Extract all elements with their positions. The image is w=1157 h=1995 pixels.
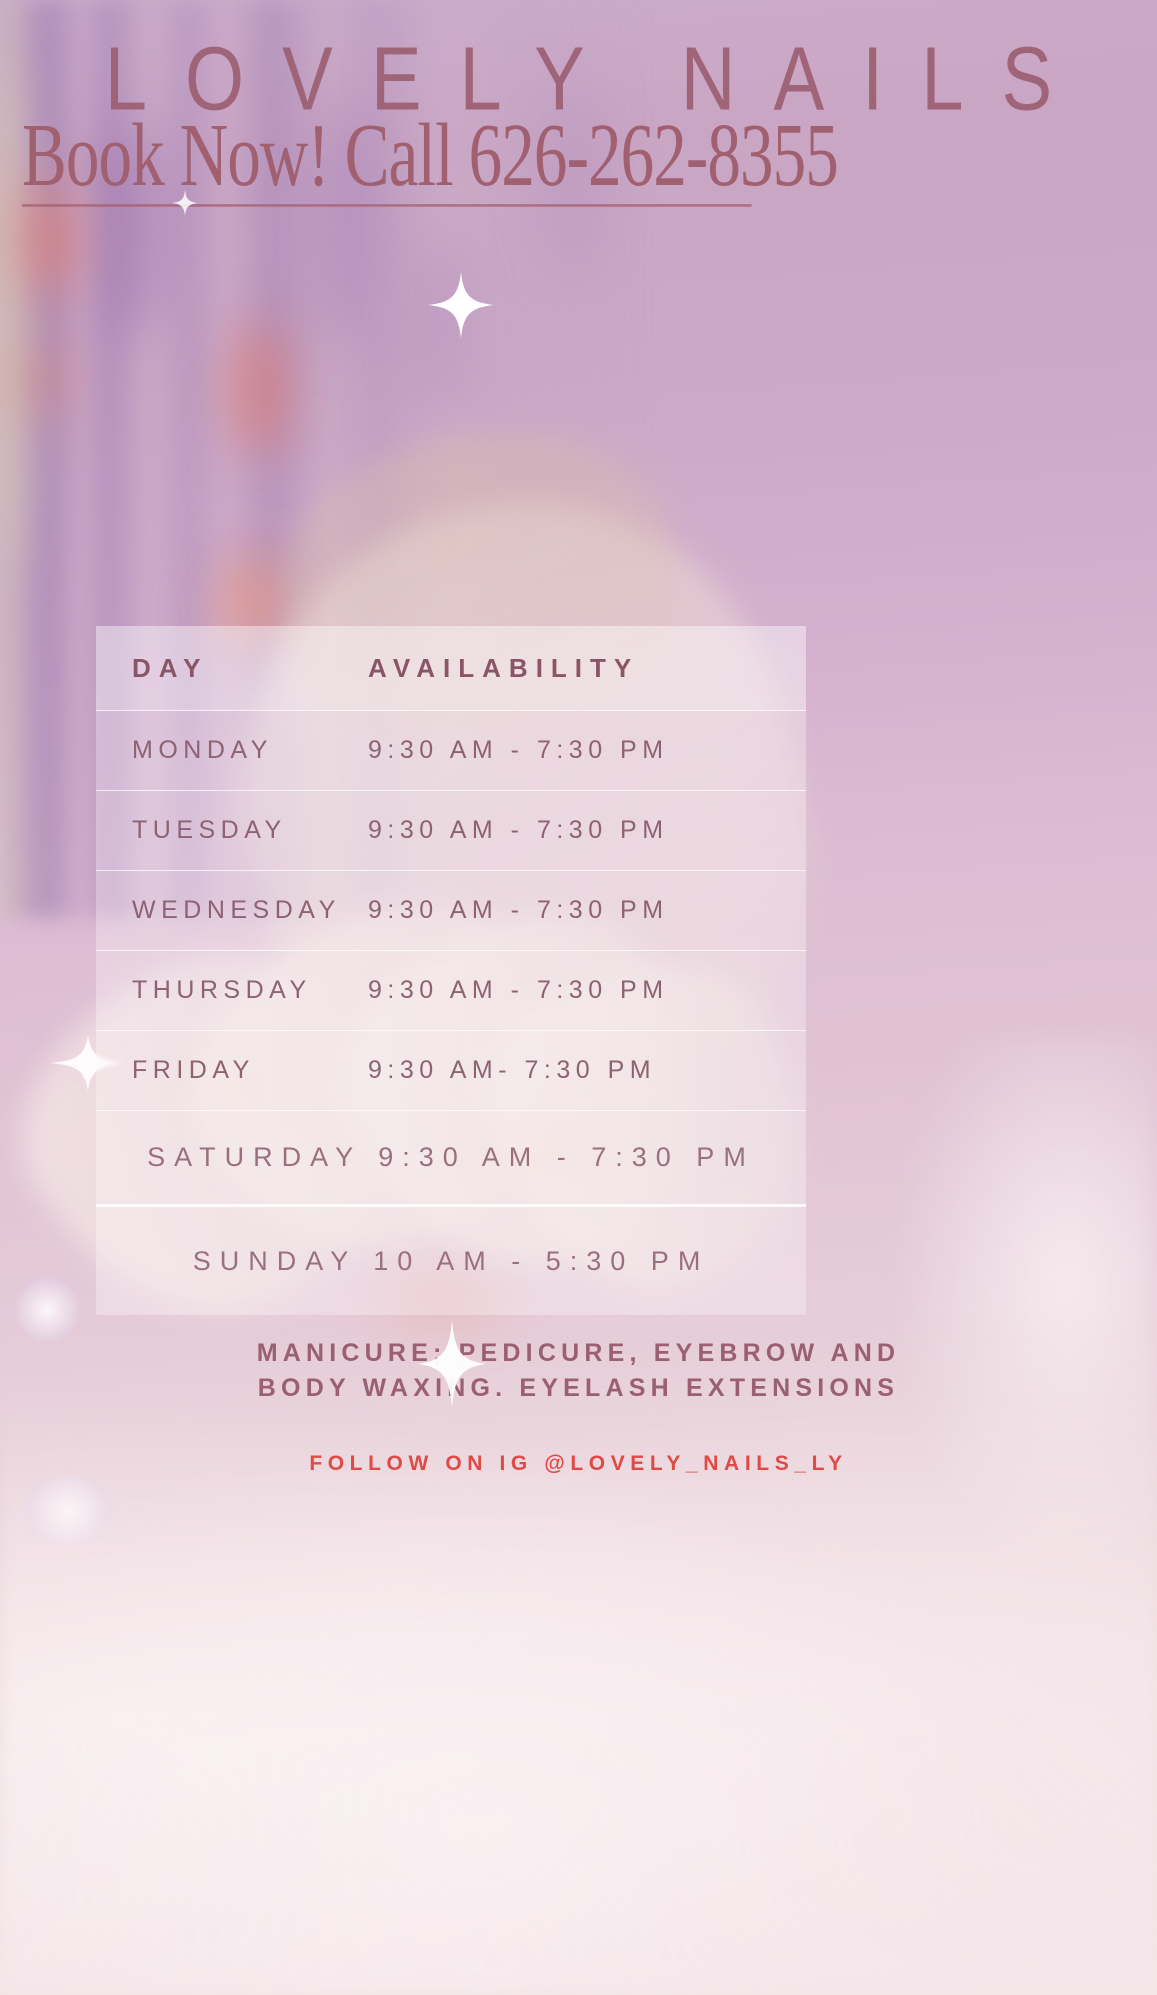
call-to-action-phone[interactable]: Book Now! Call 626-262-8355 (22, 112, 752, 207)
table-row-saturday: SATURDAY 9:30 AM - 7:30 PM (96, 1111, 806, 1207)
table-header-row: DAY AVAILABILITY (96, 626, 806, 711)
table-row: TUESDAY 9:30 AM - 7:30 PM (96, 791, 806, 871)
table-row-sunday: SUNDAY 10 AM - 5:30 PM (96, 1207, 806, 1315)
services-list: MANICURE; PEDICURE, EYEBROW AND BODY WAX… (0, 1336, 1157, 1405)
cell-availability: 9:30 AM- 7:30 PM (368, 1056, 806, 1085)
column-header-day: DAY (96, 653, 368, 684)
services-line-2: BODY WAXING. EYELASH EXTENSIONS (0, 1371, 1157, 1406)
table-row: MONDAY 9:30 AM - 7:30 PM (96, 711, 806, 791)
cell-availability: 9:30 AM - 7:30 PM (368, 816, 806, 845)
cell-sunday-hours: SUNDAY 10 AM - 5:30 PM (96, 1246, 806, 1277)
schedule-table: DAY AVAILABILITY MONDAY 9:30 AM - 7:30 P… (96, 626, 806, 1315)
cell-day: FRIDAY (96, 1056, 368, 1085)
cell-availability: 9:30 AM - 7:30 PM (368, 736, 806, 765)
fluffy-rug-bottom (0, 1317, 1157, 1995)
table-row: FRIDAY 9:30 AM- 7:30 PM (96, 1031, 806, 1111)
cell-day: WEDNESDAY (96, 896, 368, 925)
services-line-1: MANICURE; PEDICURE, EYEBROW AND (0, 1336, 1157, 1371)
cell-availability: 9:30 AM - 7:30 PM (368, 976, 806, 1005)
cell-day: MONDAY (96, 736, 368, 765)
table-row: WEDNESDAY 9:30 AM - 7:30 PM (96, 871, 806, 951)
nail-salon-flyer: LOVELY NAILS Book Now! Call 626-262-8355… (0, 0, 1157, 1995)
column-header-availability: AVAILABILITY (368, 653, 806, 684)
instagram-handle[interactable]: FOLLOW ON IG @LOVELY_NAILS_LY (0, 1452, 1157, 1476)
cell-day: TUESDAY (96, 816, 368, 845)
cell-day: THURSDAY (96, 976, 368, 1005)
table-row: THURSDAY 9:30 AM - 7:30 PM (96, 951, 806, 1031)
cell-availability: 9:30 AM - 7:30 PM (368, 896, 806, 925)
cell-saturday-hours: SATURDAY 9:30 AM - 7:30 PM (96, 1142, 806, 1173)
